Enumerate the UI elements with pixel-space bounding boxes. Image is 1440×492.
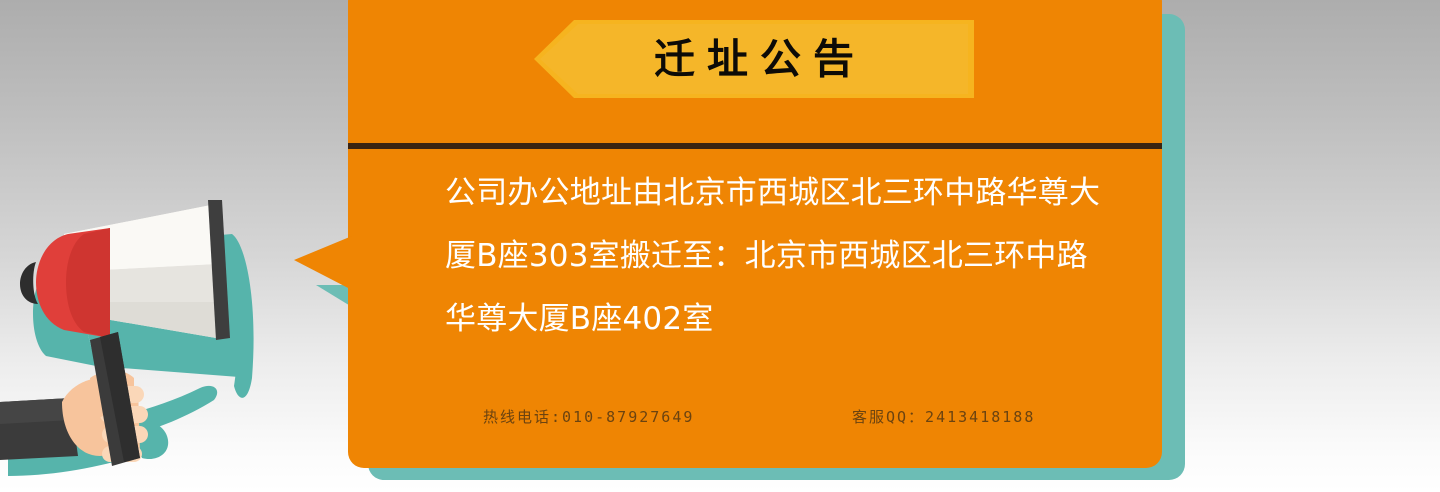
page-title: 迁址公告 [534, 20, 974, 98]
megaphone-icon [0, 190, 320, 492]
hotline-phone: 热线电话:010-87927649 [483, 406, 694, 427]
announcement-card: 迁址公告 公司办公地址由北京市西城区北三环中路华尊大厦B座303室搬迁至：北京市… [348, 0, 1162, 468]
service-qq: 客服QQ：2413418188 [852, 406, 1035, 427]
title-ribbon: 迁址公告 [348, 20, 1162, 98]
shirt-sleeve-highlight [0, 398, 72, 424]
announcement-banner: 迁址公告 公司办公地址由北京市西城区北三环中路华尊大厦B座303室搬迁至：北京市… [0, 0, 1440, 492]
title-divider [348, 143, 1162, 149]
announcement-body: 公司办公地址由北京市西城区北三环中路华尊大厦B座303室搬迁至：北京市西城区北三… [445, 162, 1105, 351]
contact-footer: 热线电话:010-87927649 客服QQ：2413418188 [348, 406, 1162, 436]
